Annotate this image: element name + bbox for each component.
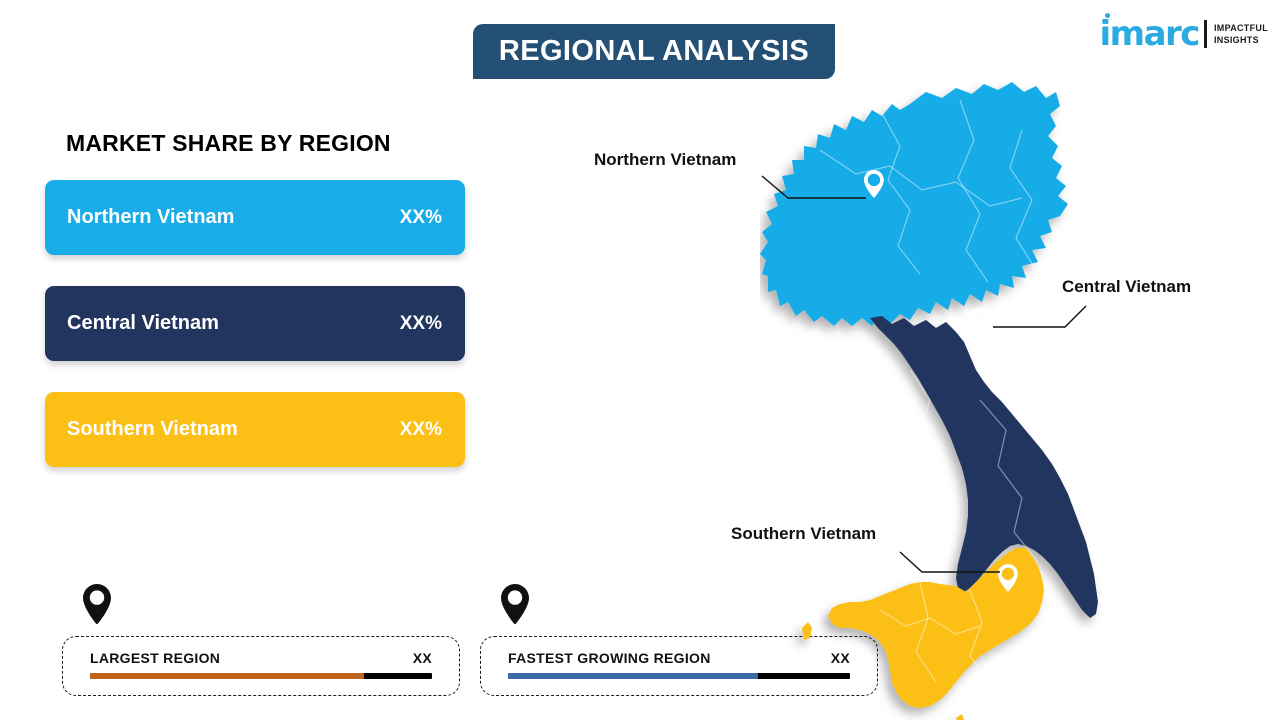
region-bar-value: XX%	[400, 313, 442, 335]
fastest-growing-region-progress-fill	[508, 673, 758, 679]
map-region-central[interactable]	[870, 316, 1098, 618]
region-bar-label: Southern Vietnam	[67, 418, 238, 441]
map-island-small	[802, 622, 812, 640]
vietnam-map	[760, 70, 1280, 720]
logo-tagline-line1: IMPACTFUL	[1214, 22, 1268, 34]
logo-wordmark-text: imarc	[1100, 14, 1199, 54]
region-bar-label: Central Vietnam	[67, 312, 219, 335]
logo-wordmark: imarc	[1100, 17, 1199, 51]
region-bar-value: XX%	[400, 207, 442, 229]
map-pin-icon	[500, 583, 530, 625]
map-island-tiny	[956, 714, 964, 720]
largest-region-progress-fill	[90, 673, 364, 679]
region-bar-central[interactable]: Central Vietnam XX%	[45, 286, 465, 361]
logo-dot-icon	[1105, 13, 1110, 18]
map-pin-icon	[82, 583, 112, 625]
map-pin-icon-central[interactable]	[969, 308, 989, 336]
region-bar-northern[interactable]: Northern Vietnam XX%	[45, 180, 465, 255]
vietnam-map-svg	[760, 70, 1280, 720]
logo-tagline: IMPACTFUL INSIGHTS	[1214, 22, 1268, 46]
market-share-heading: MARKET SHARE BY REGION	[66, 130, 391, 157]
region-bar-label: Northern Vietnam	[67, 206, 234, 229]
logo-tagline-line2: INSIGHTS	[1214, 34, 1268, 46]
imarc-logo: imarc IMPACTFUL INSIGHTS	[1100, 14, 1268, 54]
page-title: REGIONAL ANALYSIS	[499, 35, 809, 68]
logo-divider	[1204, 20, 1207, 48]
region-share-list: Northern Vietnam XX% Central Vietnam XX%…	[45, 180, 465, 498]
fastest-growing-region-title: FASTEST GROWING REGION	[508, 650, 711, 666]
largest-region-box: LARGEST REGION XX	[62, 636, 460, 696]
map-callout-southern: Southern Vietnam	[731, 524, 876, 544]
largest-region-title: LARGEST REGION	[90, 650, 220, 666]
map-region-southern[interactable]	[828, 548, 1044, 708]
region-bar-value: XX%	[400, 419, 442, 441]
map-region-northern[interactable]	[760, 82, 1068, 326]
largest-region-progress-track	[90, 673, 432, 679]
largest-region-value: XX	[413, 650, 432, 666]
region-bar-southern[interactable]: Southern Vietnam XX%	[45, 392, 465, 467]
map-callout-northern: Northern Vietnam	[594, 150, 736, 170]
map-callout-central: Central Vietnam	[1062, 277, 1191, 297]
